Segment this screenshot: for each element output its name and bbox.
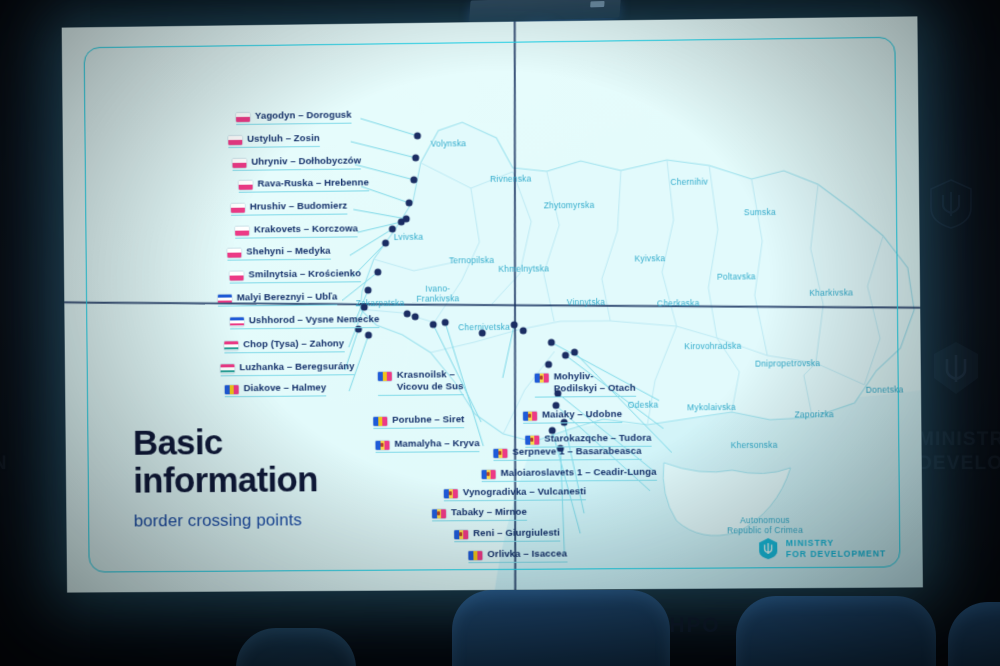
flag-icon-md [432,509,446,518]
ministry-logo: MINISTRY FOR DEVELOPMENT [758,536,887,560]
crossing-point-dot[interactable] [398,218,405,225]
oblast-label: Poltavska [717,272,756,282]
border-crossing-label[interactable]: Hrushiv – Budomierz [231,201,347,216]
border-crossing-label-text: Mamalyha – Kryva [394,438,479,450]
flag-icon-pl [232,158,246,167]
border-crossing-label-text: Luzhanka – Beregsurány [239,361,354,374]
border-crossing-label-text: Rava-Ruska – Hrebenne [257,177,369,190]
oblast-label: Autonomous Republic of Crimea [727,516,803,536]
border-crossing-label-text: Starokazqche – Tudora [544,433,651,446]
title-block: Basic information border crossing points [133,423,319,531]
border-crossing-label-text: Serpneve 1 – Basarabeasca [512,446,641,459]
border-crossing-label[interactable]: Rava-Ruska – Hrebenne [239,177,369,193]
border-crossing-label[interactable]: Maloiaroslavets 1 – Ceadir-Lunga [482,467,657,483]
border-crossing-label[interactable]: Orlivka – Isaccea [468,549,567,564]
trident-shield-icon [930,340,982,396]
border-crossing-label-text: Orlivka – Isaccea [487,549,567,561]
crossing-point-dot[interactable] [365,332,372,339]
crossing-point-dot[interactable] [406,199,413,206]
border-crossing-label[interactable]: Uhryniv – Dołhobyczów [232,155,361,171]
flag-icon-md [454,530,468,539]
crossing-point-dot[interactable] [389,225,396,232]
crossing-point-dot[interactable] [412,154,419,161]
crossing-point-dot[interactable] [430,321,437,328]
oblast-label: Vinnytska [567,298,606,308]
oblast-label: Rivnenska [490,175,531,185]
border-crossing-label-text: Smilnytsia – Krościenko [248,268,361,281]
oblast-label: Kirovohradska [684,342,741,352]
flag-icon-pl [239,180,253,189]
oblast-label: Kharkivska [809,288,853,298]
crossing-point-dot[interactable] [442,319,449,326]
oblast-label: Zaporizka [795,410,834,420]
oblast-label: Odeska [628,401,659,411]
flag-icon-hu [224,341,238,350]
oblast-label: Ternopilska [449,256,494,266]
border-crossing-label[interactable]: Ushhorod – Vysne Nemecke [230,314,379,330]
ceiling-mount-bar [469,0,621,23]
projection-screen[interactable]: VolynskaRivnenskaZhytomyrskaChernihivSum… [62,16,923,592]
flag-icon-hu [221,364,235,373]
chair [452,590,670,666]
border-crossing-label-text: Hrushiv – Budomierz [250,201,347,214]
crossing-point-dot[interactable] [520,327,527,334]
flag-icon-pl [230,271,244,280]
border-crossing-label[interactable]: Krasnoilsk – Vicovu de Sus [378,369,464,396]
oblast-label: Chernihiv [670,178,708,188]
flag-icon-pl [227,248,241,257]
crossing-point-dot[interactable] [545,361,552,368]
crossing-point-dot[interactable] [404,310,411,317]
border-crossing-label-text: Maiaky – Udobne [542,409,622,421]
oblast-label: Kyivska [634,254,665,264]
oblast-label: Lvivska [394,233,424,243]
border-crossing-label[interactable]: Serpneve 1 – Basarabeasca [493,446,641,461]
wall-brand-right: MINISTRY DEVELOPM [918,428,1000,476]
crossing-point-dot[interactable] [382,240,389,247]
border-crossing-label[interactable]: Porubne – Siret [373,414,464,429]
border-crossing-label[interactable]: Yagodyn – Dorogusk [236,110,352,126]
oblast-label: Donetska [866,386,904,396]
flag-icon-pl [235,226,249,235]
flag-icon-md [525,435,539,444]
border-crossing-label[interactable]: Reni – Giurgiulesti [454,528,560,543]
crossing-point-dot[interactable] [562,352,569,359]
crossing-point-dot[interactable] [414,132,421,139]
crossing-point-dot[interactable] [412,313,419,320]
flag-icon-md [444,489,458,498]
oblast-label: Khmelnytska [498,264,549,274]
border-crossing-label[interactable]: Shehyni – Medyka [227,246,330,261]
oblast-label: Dnipropetrovska [755,359,820,370]
page-subtitle: border crossing points [134,510,319,531]
crossing-point-dot[interactable] [361,304,368,311]
border-crossing-label-text: Uhryniv – Dołhobyczów [251,155,361,168]
flag-icon-md [493,448,507,457]
crossing-point-dot[interactable] [548,339,555,346]
oblast-label: Sumska [744,208,776,218]
crossing-point-dot[interactable] [479,330,486,337]
flag-icon-ro [468,551,482,560]
flag-icon-md [375,440,389,449]
flag-icon-pl [228,135,242,144]
border-crossing-label[interactable]: Mohyliv- Podilskyi – Otach [535,371,636,398]
crossing-point-dot[interactable] [365,287,372,294]
border-crossing-label-text: Maloiaroslavets 1 – Ceadir-Lunga [501,467,657,480]
border-crossing-label-text: Tabaky – Mirnoe [451,507,527,519]
crossing-point-dot[interactable] [552,402,559,409]
flag-icon-md [535,373,549,382]
oblast-label: Zhytomyrska [544,201,595,211]
crossing-point-dot[interactable] [410,176,417,183]
border-crossing-label[interactable]: Ustyluh – Zosin [228,133,320,148]
border-crossing-label-text: Ustyluh – Zosin [247,133,320,146]
flag-icon-ro [378,371,392,380]
oblast-label: Cherkaska [657,299,700,309]
page-title: Basic information [133,423,318,500]
flag-icon-sk [230,317,244,326]
oblast-label: Ivano- Frankivska [416,284,459,304]
flag-icon-ro [373,416,387,425]
presentation-slide: VolynskaRivnenskaZhytomyrskaChernihivSum… [62,16,923,592]
chair [236,628,356,666]
flag-icon-pl [236,112,250,121]
border-crossing-label[interactable]: Vynogradivka – Vulcanesti [444,486,587,501]
border-crossing-label-text: Ushhorod – Vysne Nemecke [249,314,380,327]
chair [736,596,936,666]
crossing-point-dot[interactable] [571,349,578,356]
border-crossing-label-text: Vynogradivka – Vulcanesti [463,486,587,499]
oblast-label: Khersonska [731,441,778,451]
flag-icon-sk [218,294,232,303]
trident-shield-icon [758,537,778,560]
border-crossing-label-text: Yagodyn – Dorogusk [255,110,352,123]
border-crossing-label[interactable]: Mamalyha – Kryva [375,438,479,453]
flag-icon-md [482,469,496,478]
border-crossing-label-text: Mohyliv- Podilskyi – Otach [554,371,636,395]
border-crossing-label[interactable]: Malyi Bereznyi – Ubľa [218,291,338,306]
oblast-label: Volynska [431,139,467,149]
wall-brand-left: Y PMEN [0,428,8,476]
flag-icon-pl [231,203,245,212]
border-crossing-label[interactable]: Tabaky – Mirnoe [432,507,527,522]
conference-room: Y PMEN MINISTRY DEVELOPM [0,0,1000,666]
flag-icon-ro [225,385,239,394]
flag-icon-md [523,411,537,420]
border-crossing-label-text: Krakovets – Korczowa [254,223,358,236]
border-crossing-label-text: Malyi Bereznyi – Ubľa [237,291,338,304]
border-crossing-label[interactable]: Luzhanka – Beregsurány [221,361,355,376]
border-crossing-label-text: Porubne – Siret [392,414,464,426]
ministry-logo-text: MINISTRY FOR DEVELOPMENT [786,537,886,559]
border-crossing-label-text: Krasnoilsk – Vicovu de Sus [397,369,464,393]
border-crossing-label[interactable]: Smilnytsia – Krościenko [230,268,362,283]
border-crossing-label[interactable]: Diakove – Halmey [225,382,327,397]
border-crossing-label-text: Shehyni – Medyka [246,246,330,259]
crossing-point-dot[interactable] [511,321,518,328]
border-crossing-label-text: Diakove – Halmey [244,382,327,394]
border-crossing-label-text: Chop (Tysa) – Zahony [243,338,344,351]
trident-shield-icon [928,178,974,230]
border-crossing-label[interactable]: Chop (Tysa) – Zahony [224,338,344,353]
oblast-label: Mykolaivska [687,403,736,413]
border-crossing-label-text: Reni – Giurgiulesti [473,528,560,540]
crossing-point-dot[interactable] [374,269,381,276]
border-crossing-label[interactable]: Maiaky – Udobne [523,409,622,424]
border-crossing-label[interactable]: Krakovets – Korczowa [235,223,358,238]
